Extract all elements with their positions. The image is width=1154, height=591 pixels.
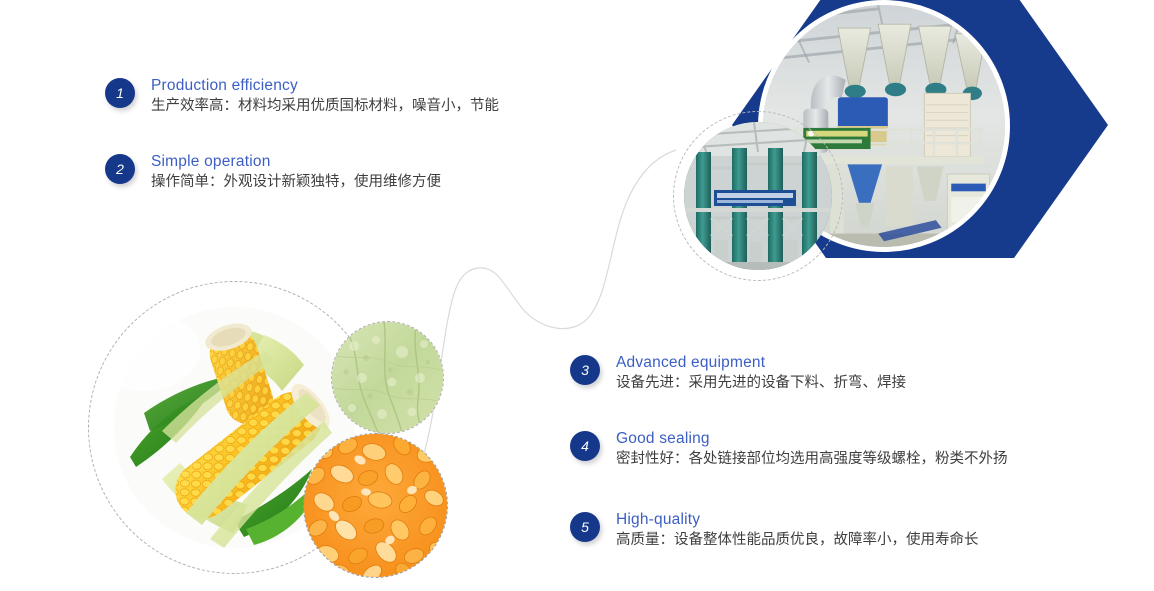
feature-item-5[interactable]: 5 High-quality 高质量：设备整体性能品质优良，故障率小，使用寿命长 bbox=[570, 510, 979, 551]
small-circle-media bbox=[673, 111, 843, 281]
feature-number-badge: 2 bbox=[105, 154, 135, 184]
feature-title-cn: 高质量：设备整体性能品质优良，故障率小，使用寿命长 bbox=[616, 530, 979, 551]
dashed-ring bbox=[331, 321, 444, 434]
feature-title-cn: 操作简单：外观设计新颖独特，使用维修方便 bbox=[151, 172, 441, 193]
feature-number-badge: 4 bbox=[570, 431, 600, 461]
feature-text-block: High-quality 高质量：设备整体性能品质优良，故障率小，使用寿命长 bbox=[616, 510, 979, 551]
feature-number-badge: 3 bbox=[570, 355, 600, 385]
feature-item-1[interactable]: 1 Production efficiency 生产效率高：材料均采用优质国标材… bbox=[105, 76, 499, 117]
feature-title-cn: 设备先进：采用先进的设备下料、折弯、焊接 bbox=[616, 373, 906, 394]
feature-text-block: Advanced equipment 设备先进：采用先进的设备下料、折弯、焊接 bbox=[616, 353, 906, 394]
feature-title-cn: 生产效率高：材料均采用优质国标材料，噪音小，节能 bbox=[151, 96, 499, 117]
green-milling-machinery-photo bbox=[684, 122, 832, 270]
feature-item-3[interactable]: 3 Advanced equipment 设备先进：采用先进的设备下料、折弯、焊… bbox=[570, 353, 906, 394]
feature-text-block: Simple operation 操作简单：外观设计新颖独特，使用维修方便 bbox=[151, 152, 441, 193]
feature-title-en: Production efficiency bbox=[151, 76, 499, 95]
dashed-ring bbox=[303, 433, 448, 578]
feature-title-en: Good sealing bbox=[616, 429, 1008, 448]
feature-title-en: Simple operation bbox=[151, 152, 441, 171]
feature-number-badge: 5 bbox=[570, 512, 600, 542]
feature-item-2[interactable]: 2 Simple operation 操作简单：外观设计新颖独特，使用维修方便 bbox=[105, 152, 441, 193]
feature-text-block: Good sealing 密封性好：各处链接部位均选用高强度等级螺栓，粉类不外扬 bbox=[616, 429, 1008, 470]
corn-media-cluster bbox=[88, 281, 488, 591]
feature-number-badge: 1 bbox=[105, 78, 135, 108]
feature-item-4[interactable]: 4 Good sealing 密封性好：各处链接部位均选用高强度等级螺栓，粉类不… bbox=[570, 429, 1008, 470]
feature-text-block: Production efficiency 生产效率高：材料均采用优质国标材料，… bbox=[151, 76, 499, 117]
feature-title-en: High-quality bbox=[616, 510, 979, 529]
feature-infographic-page: 1 Production efficiency 生产效率高：材料均采用优质国标材… bbox=[0, 0, 1154, 591]
feature-title-cn: 密封性好：各处链接部位均选用高强度等级螺栓，粉类不外扬 bbox=[616, 449, 1008, 470]
feature-title-en: Advanced equipment bbox=[616, 353, 906, 372]
